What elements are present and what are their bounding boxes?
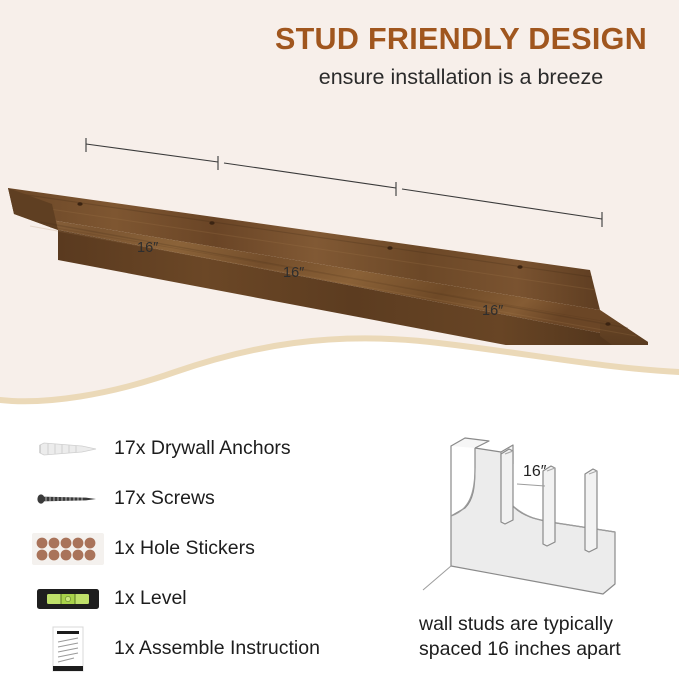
caption-line-1: wall studs are typically [419, 612, 675, 637]
accessory-label: 1x Assemble Instruction [114, 639, 320, 659]
stud-diagram-illustration [413, 424, 675, 604]
list-item: 17x Drywall Anchors [22, 424, 402, 474]
stud-diagram [413, 424, 675, 604]
infographic-canvas: STUD FRIENDLY DESIGN ensure installation… [0, 0, 679, 671]
shelf-dimension-label-2: 16″ [283, 265, 304, 281]
shelf-dimension-label-3: 16″ [482, 303, 503, 319]
shelf-image: 16″ 16″ 16″ [0, 110, 679, 345]
list-item: 1x Level [22, 574, 402, 624]
page-subtitle: ensure installation is a breeze [255, 65, 667, 90]
list-item: 17x Screws [22, 474, 402, 524]
level-icon [22, 575, 114, 623]
shelf-illustration [0, 110, 679, 345]
accessories-list: 17x Drywall Anchors 17x Screws [22, 424, 402, 674]
accessory-label: 1x Hole Stickers [114, 539, 255, 559]
instruction-sheet-icon [22, 625, 114, 673]
screw-icon [22, 475, 114, 523]
list-item: 1x Assemble Instruction [22, 624, 402, 674]
caption-line-2: spaced 16 inches apart [419, 637, 675, 662]
shelf-dimension-label-1: 16″ [137, 240, 158, 256]
stud-dimension-label: 16″ [523, 463, 546, 481]
accessory-label: 1x Level [114, 589, 187, 609]
accessory-label: 17x Drywall Anchors [114, 439, 291, 459]
curve-divider-stroke [0, 338, 679, 401]
hole-stickers-icon [22, 525, 114, 573]
floor-leader-line [423, 566, 451, 590]
stud-dimension-leader [517, 484, 545, 486]
list-item: 1x Hole Stickers [22, 524, 402, 574]
accessory-label: 17x Screws [114, 489, 215, 509]
stud-diagram-caption: wall studs are typically spaced 16 inche… [419, 612, 675, 662]
drywall-anchor-icon [22, 425, 114, 473]
page-title: STUD FRIENDLY DESIGN [255, 22, 667, 56]
header-block: STUD FRIENDLY DESIGN ensure installation… [255, 22, 667, 90]
